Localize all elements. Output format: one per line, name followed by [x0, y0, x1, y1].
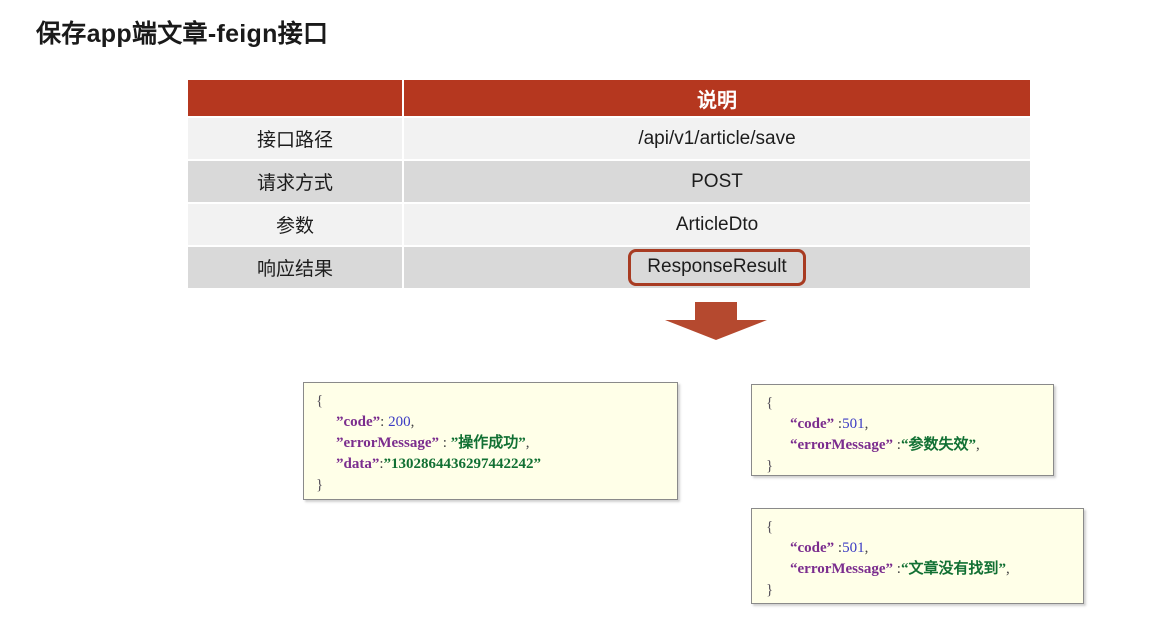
table-header-cell-blank	[188, 80, 402, 116]
code-block-param-invalid: { “code” :501, “errorMessage” :“参数失效”, }	[751, 384, 1054, 476]
table-row: 请求方式 POST	[188, 161, 1030, 202]
row-value-parameters: ArticleDto	[404, 204, 1030, 245]
table-row: 参数 ArticleDto	[188, 204, 1030, 245]
code-line: ”errorMessage” : ”操作成功”,	[316, 433, 667, 454]
interface-spec-table: 说明 接口路径 /api/v1/article/save 请求方式 POST 参…	[186, 78, 1032, 290]
code-value: ”1302864436297442242”	[384, 456, 542, 472]
code-separator: :	[380, 414, 384, 430]
code-open-brace: {	[316, 391, 667, 412]
code-comma: ,	[976, 437, 980, 453]
code-value: 501	[842, 540, 865, 556]
code-key: ”errorMessage”	[336, 435, 439, 451]
code-separator: :	[834, 416, 842, 432]
code-line: “code” :501,	[766, 538, 1073, 559]
parameters-text: ArticleDto	[676, 214, 758, 236]
code-separator: :	[439, 435, 447, 451]
code-key: “errorMessage”	[790, 561, 893, 577]
code-value: “参数失效”	[901, 437, 976, 453]
code-open-brace: {	[766, 393, 1043, 414]
request-method-text: POST	[691, 171, 743, 193]
page-title: 保存app端文章-feign接口	[36, 14, 328, 50]
code-block-article-not-found: { “code” :501, “errorMessage” :“文章没有找到”,…	[751, 508, 1084, 604]
code-key: “errorMessage”	[790, 437, 893, 453]
code-close-brace: }	[766, 580, 1073, 601]
code-comma: ,	[526, 435, 530, 451]
row-label-request-method: 请求方式	[188, 161, 402, 202]
row-label-api-path: 接口路径	[188, 118, 402, 159]
table-body: 接口路径 /api/v1/article/save 请求方式 POST 参数 A…	[188, 118, 1030, 288]
arrow-down-icon	[663, 301, 769, 341]
code-comma: ,	[411, 414, 415, 430]
code-key: “code”	[790, 540, 834, 556]
code-close-brace: }	[316, 475, 667, 496]
row-value-api-path: /api/v1/article/save	[404, 118, 1030, 159]
code-value: 200	[388, 414, 411, 430]
table-header-row: 说明	[188, 80, 1030, 116]
code-open-brace: {	[766, 517, 1073, 538]
row-value-response-result: ResponseResult	[404, 247, 1030, 288]
response-result-highlight: ResponseResult	[628, 249, 805, 286]
code-separator: :	[893, 437, 901, 453]
code-line: ”data”:”1302864436297442242”	[316, 454, 667, 475]
code-close-brace: }	[766, 456, 1043, 477]
code-key: ”code”	[336, 414, 380, 430]
code-line: “errorMessage” :“参数失效”,	[766, 435, 1043, 456]
code-value: 501	[842, 416, 865, 432]
table-header: 说明	[188, 80, 1030, 116]
code-block-success: { ”code”: 200, ”errorMessage” : ”操作成功”, …	[303, 382, 678, 500]
table-row: 响应结果 ResponseResult	[188, 247, 1030, 288]
row-label-parameters: 参数	[188, 204, 402, 245]
table-header-cell-description: 说明	[404, 80, 1030, 116]
code-line: “code” :501,	[766, 414, 1043, 435]
code-line: “errorMessage” :“文章没有找到”,	[766, 559, 1073, 580]
table-row: 接口路径 /api/v1/article/save	[188, 118, 1030, 159]
code-key: “code”	[790, 416, 834, 432]
code-key: ”data”	[336, 456, 379, 472]
code-comma: ,	[1006, 561, 1010, 577]
row-value-request-method: POST	[404, 161, 1030, 202]
code-value: ”操作成功”	[451, 435, 526, 451]
api-path-text: /api/v1/article/save	[638, 128, 795, 150]
code-line: ”code”: 200,	[316, 412, 667, 433]
code-separator: :	[834, 540, 842, 556]
code-value: “文章没有找到”	[901, 561, 1006, 577]
row-label-response-result: 响应结果	[188, 247, 402, 288]
code-separator: :	[893, 561, 901, 577]
code-comma: ,	[865, 416, 869, 432]
code-comma: ,	[865, 540, 869, 556]
